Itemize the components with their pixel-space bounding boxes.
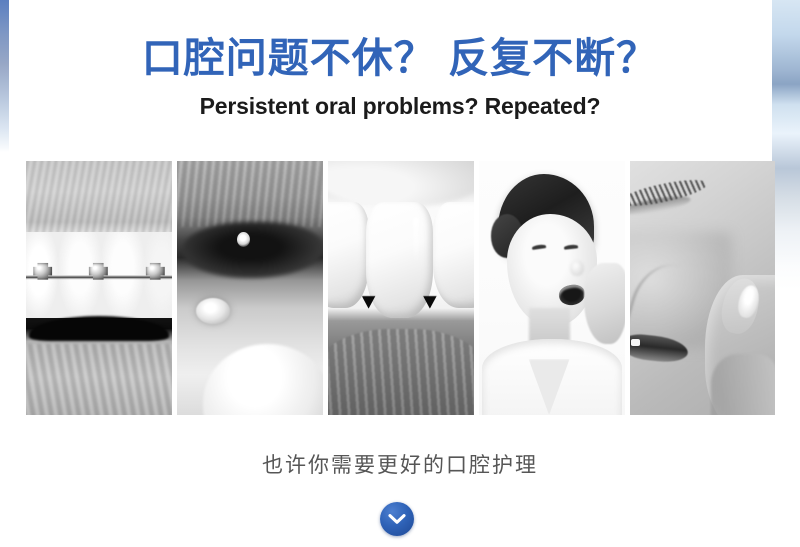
- cupped-hand: [584, 263, 625, 344]
- gum: [328, 161, 474, 207]
- ulcer-sore: [196, 298, 230, 324]
- tooth: [328, 202, 369, 309]
- visible-tooth: [631, 339, 640, 346]
- photo-gallery: [26, 161, 775, 415]
- mouth-cavity: [183, 222, 323, 278]
- promo-page: 口腔问题不休？ 反复不断？ Persistent oral problems? …: [0, 0, 800, 547]
- mouth-gap: [29, 316, 169, 341]
- scroll-down-button[interactable]: [380, 502, 414, 536]
- photo-toothache: [630, 161, 775, 415]
- upper-lip: [26, 161, 172, 237]
- tooth-glint: [237, 232, 250, 247]
- chevron-down-icon: [388, 513, 406, 525]
- photo-teeth-gums: [328, 161, 474, 415]
- nose: [570, 260, 584, 276]
- tongue: [203, 344, 323, 415]
- upper-lip: [177, 161, 323, 227]
- lower-lip: [26, 344, 172, 415]
- tooth-highlight: [413, 217, 419, 265]
- tooth: [366, 202, 433, 319]
- lower-lip: [328, 329, 474, 415]
- page-subtitle: Persistent oral problems? Repeated?: [0, 93, 800, 121]
- page-title: 口腔问题不休？ 反复不断？: [0, 34, 800, 82]
- photo-braces: [26, 161, 172, 415]
- fingers: [711, 354, 775, 415]
- photo-mouth-ulcer: [177, 161, 323, 415]
- footer-caption: 也许你需要更好的口腔护理: [0, 449, 800, 479]
- photo-bad-breath: [479, 161, 625, 415]
- tooth: [433, 202, 474, 309]
